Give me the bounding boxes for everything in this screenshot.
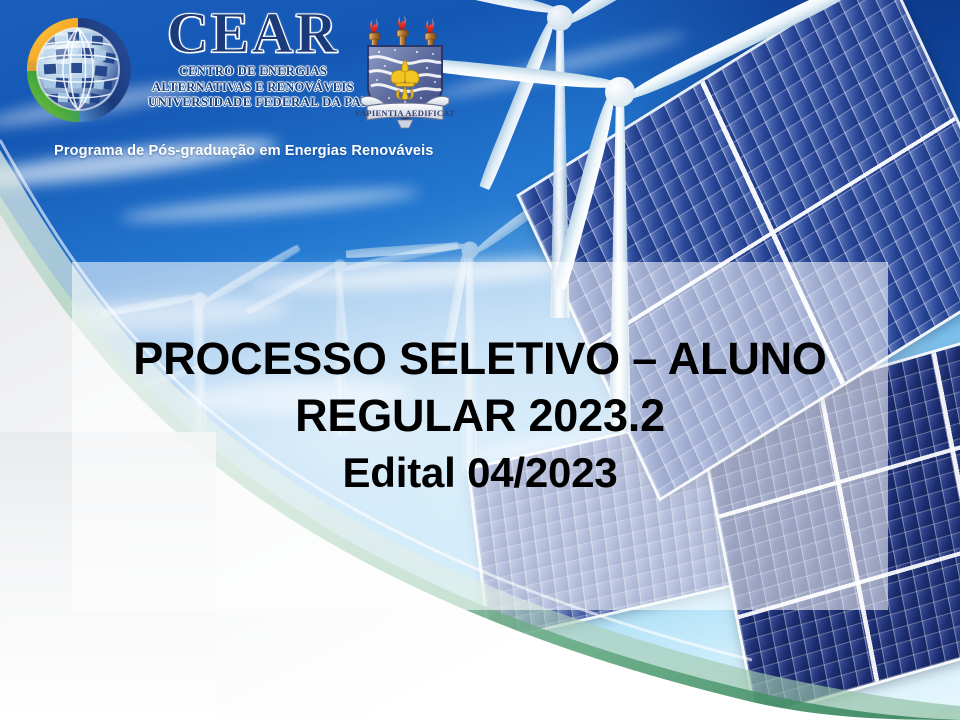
program-subtitle: Programa de Pós-graduação em Energias Re… [54,143,434,159]
ufpb-coat-of-arms-icon: SAPIENTIA AEDIFICAT [355,6,455,134]
page-title: PROCESSO SELETIVO – ALUNO REGULAR 2023.2… [72,330,888,501]
institution-line-2: ALTERNATIVAS E RENOVÁVEIS [148,80,358,96]
crest-motto: SAPIENTIA AEDIFICAT [355,108,455,118]
institution-line-1: CENTRO DE ENERGIAS [148,64,358,80]
presentation-slide: PROCESSO SELETIVO – ALUNO REGULAR 2023.2… [0,0,960,720]
institution-name-lines: CENTRO DE ENERGIAS ALTERNATIVAS E RENOVÁ… [148,64,358,111]
cear-wordmark: CEAR CENTRO DE ENERGIAS ALTERNATIVAS E R… [148,4,358,111]
title-line-1: PROCESSO SELETIVO – ALUNO [72,330,888,387]
institution-acronym: CEAR [148,4,358,62]
cear-globe-logo-icon [14,8,142,132]
header-logo-bar: CEAR CENTRO DE ENERGIAS ALTERNATIVAS E R… [0,0,960,148]
title-line-3: Edital 04/2023 [72,444,888,501]
institution-line-3: UNIVERSIDADE FEDERAL DA PARAÍBA [148,95,358,111]
title-line-2: REGULAR 2023.2 [72,387,888,444]
